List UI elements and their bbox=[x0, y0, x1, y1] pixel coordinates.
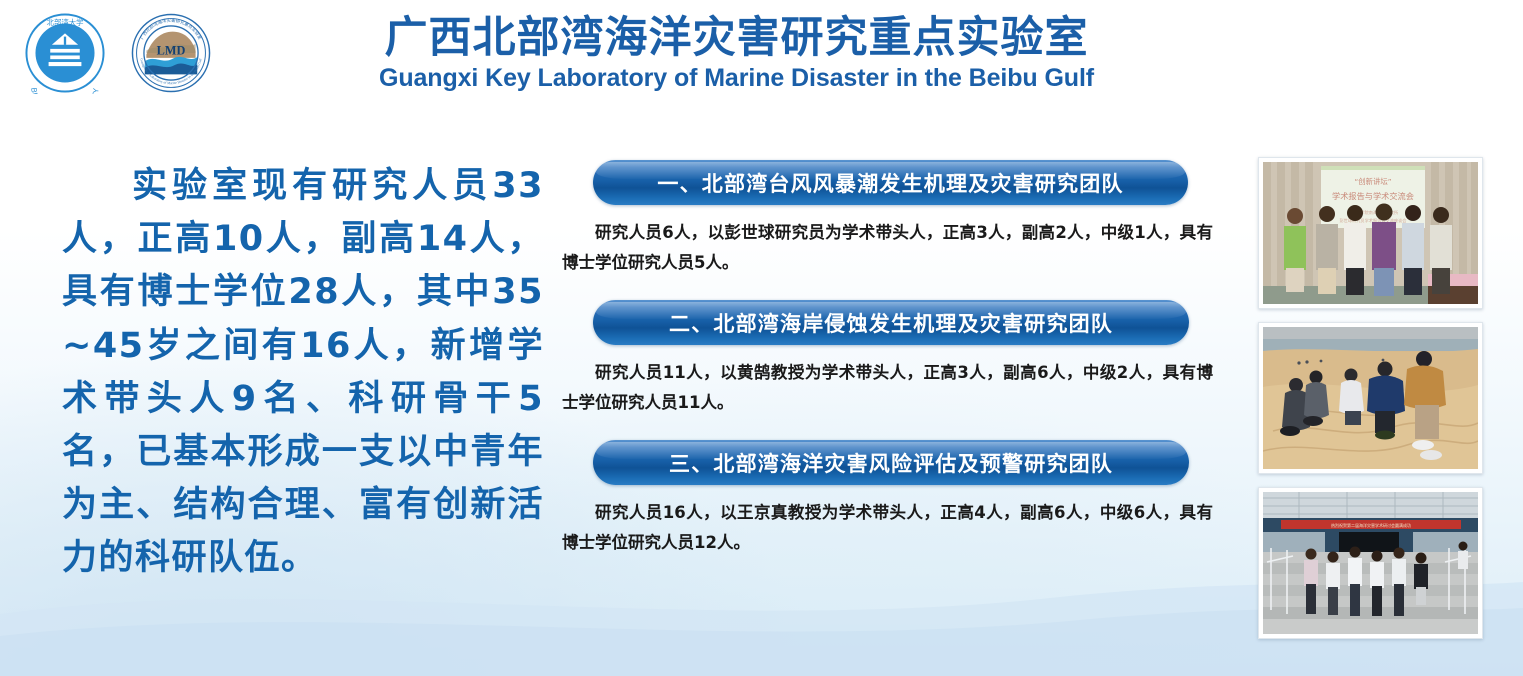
team-description-2: 研究人员11人，以黄鹄教授为学术带头人，正高3人，副高6人，中级2人，具有博士学… bbox=[560, 358, 1220, 418]
svg-text:北部湾大学: 北部湾大学 bbox=[47, 18, 84, 27]
summary-paragraph: 实验室现有研究人员33人，正高10人，副高14人，具有博士学位28人，其中35~… bbox=[62, 160, 544, 586]
team-description-3: 研究人员16人，以王京真教授为学术带头人，正高4人，副高6人，中级6人，具有博士… bbox=[560, 498, 1220, 558]
research-teams-list: 一、北部湾台风风暴潮发生机理及灾害研究团队 研究人员6人，以彭世球研究员为学术带… bbox=[560, 160, 1220, 574]
team-banner-label: 三、北部湾海洋灾害风险评估及预警研究团队 bbox=[669, 448, 1113, 478]
team-banner-label: 二、北部湾海岸侵蚀发生机理及灾害研究团队 bbox=[669, 308, 1113, 338]
laboratory-logo-icon: LMD 广西北部湾海洋灾害研究重点实验室 Guangxi Key Laborat… bbox=[130, 12, 212, 94]
team-description-1: 研究人员6人，以彭世球研究员为学术带头人，正高3人，副高2人，中级1人，具有博士… bbox=[560, 218, 1220, 278]
photo-image: 热烈祝贺第二届海洋灾害学术研讨会圆满成功 bbox=[1263, 492, 1478, 634]
projection-title: “创新讲坛” bbox=[1354, 177, 1391, 186]
projection-subtitle: 学术报告与学术交流会 bbox=[1332, 191, 1414, 201]
photo-column: “创新讲坛” 学术报告与学术交流会 中国科学院南海海洋研究所 彭世球研究员学术报… bbox=[1258, 157, 1483, 652]
beibu-gulf-university-logo-icon: BEIBU GULF UNIVERSITY 北部湾大学 bbox=[24, 12, 106, 94]
photo-academic-forum: “创新讲坛” 学术报告与学术交流会 中国科学院南海海洋研究所 彭世球研究员学术报… bbox=[1258, 157, 1483, 309]
team-block: 二、北部湾海岸侵蚀发生机理及灾害研究团队 研究人员11人，以黄鹄教授为学术带头人… bbox=[560, 300, 1220, 418]
photo-image: “创新讲坛” 学术报告与学术交流会 中国科学院南海海洋研究所 彭世球研究员学术报… bbox=[1263, 162, 1478, 304]
summary-section: 实验室现有研究人员33人，正高10人，副高14人，具有博士学位28人，其中35~… bbox=[62, 160, 544, 586]
photo-conference-steps: 热烈祝贺第二届海洋灾害学术研讨会圆满成功 bbox=[1258, 487, 1483, 639]
team-banner-3[interactable]: 三、北部湾海洋灾害风险评估及预警研究团队 bbox=[593, 440, 1189, 485]
team-block: 一、北部湾台风风暴潮发生机理及灾害研究团队 研究人员6人，以彭世球研究员为学术带… bbox=[560, 160, 1220, 278]
page-title-en: Guangxi Key Laboratory of Marine Disaste… bbox=[250, 64, 1223, 93]
page-title-cn: 广西北部湾海洋灾害研究重点实验室 bbox=[250, 14, 1223, 62]
team-block: 三、北部湾海洋灾害风险评估及预警研究团队 研究人员16人，以王京真教授为学术带头… bbox=[560, 440, 1220, 558]
photo-beach-fieldwork bbox=[1258, 322, 1483, 474]
photo-image bbox=[1263, 327, 1478, 469]
page-header: BEIBU GULF UNIVERSITY 北部湾大学 LMD 广西北部湾海洋灾… bbox=[0, 0, 1523, 118]
team-banner-1[interactable]: 一、北部湾台风风暴潮发生机理及灾害研究团队 bbox=[593, 160, 1188, 205]
title-block: 广西北部湾海洋灾害研究重点实验室 Guangxi Key Laboratory … bbox=[250, 14, 1223, 93]
team-banner-label: 一、北部湾台风风暴潮发生机理及灾害研究团队 bbox=[657, 168, 1123, 198]
poster-page: BEIBU GULF UNIVERSITY 北部湾大学 LMD 广西北部湾海洋灾… bbox=[0, 0, 1523, 676]
svg-text:热烈祝贺第二届海洋灾害学术研讨会圆满成功: 热烈祝贺第二届海洋灾害学术研讨会圆满成功 bbox=[1331, 522, 1411, 528]
team-banner-2[interactable]: 二、北部湾海岸侵蚀发生机理及灾害研究团队 bbox=[593, 300, 1189, 345]
svg-text:LMD: LMD bbox=[157, 44, 186, 58]
